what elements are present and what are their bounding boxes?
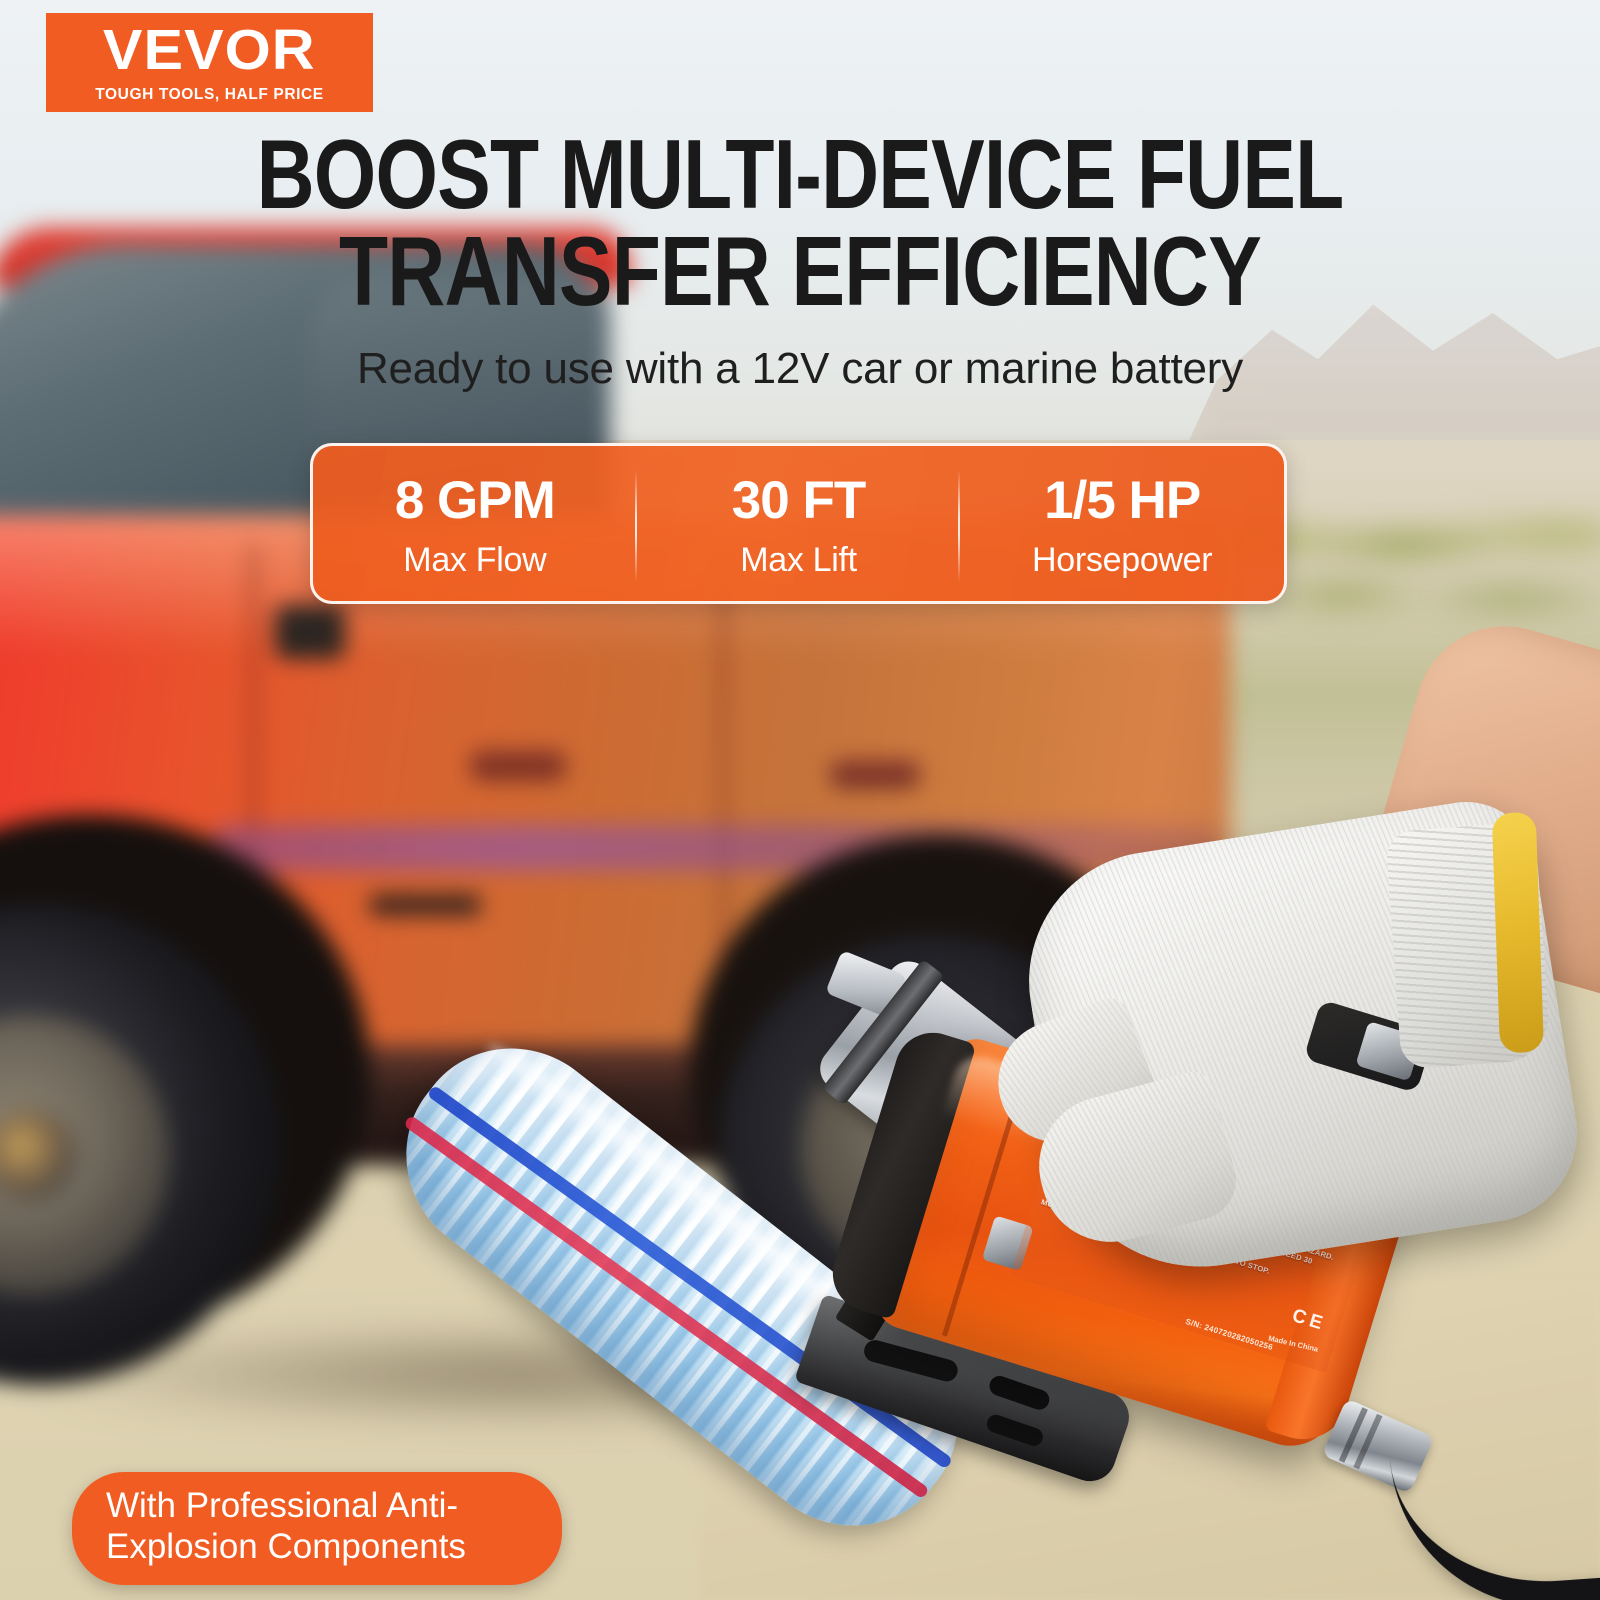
spec-value: 30 FT [732, 474, 865, 527]
spec-value: 1/5 HP [1044, 474, 1200, 527]
brand-logo: VEVOR TOUGH TOOLS, HALF PRICE [46, 13, 373, 112]
spec-label: Max Lift [740, 543, 857, 577]
bracket-slot [862, 1338, 960, 1384]
work-glove [1010, 792, 1589, 1288]
spec-item-horsepower: 1/5 HP Horsepower [960, 446, 1284, 601]
bracket-slot [985, 1412, 1046, 1448]
spec-label: Max Flow [403, 543, 546, 577]
bracket-slot [987, 1373, 1052, 1412]
power-cord [1389, 1432, 1600, 1600]
spec-value: 8 GPM [395, 474, 555, 527]
spec-item-max-flow: 8 GPM Max Flow [313, 446, 637, 601]
page-subtitle: Ready to use with a 12V car or marine ba… [0, 344, 1600, 394]
glove-cuff-trim [1492, 812, 1544, 1053]
headline-line-1: BOOST MULTI-DEVICE FUEL [144, 128, 1456, 221]
spec-label: Horsepower [1032, 543, 1212, 577]
brand-tagline: TOUGH TOOLS, HALF PRICE [95, 86, 324, 104]
spec-bar: 8 GPM Max Flow 30 FT Max Lift 1/5 HP Hor… [310, 443, 1287, 604]
page-title: BOOST MULTI-DEVICE FUEL TRANSFER EFFICIE… [0, 128, 1600, 318]
headline-line-2: TRANSFER EFFICIENCY [144, 225, 1456, 318]
product-marketing-image: 1. READ AND UNDERSTAND THE USER MANUAL B… [0, 0, 1600, 1600]
spec-item-max-lift: 30 FT Max Lift [637, 446, 961, 601]
brand-name: VEVOR [103, 22, 316, 79]
feature-badge: With Professional Anti-Explosion Compone… [72, 1472, 562, 1585]
